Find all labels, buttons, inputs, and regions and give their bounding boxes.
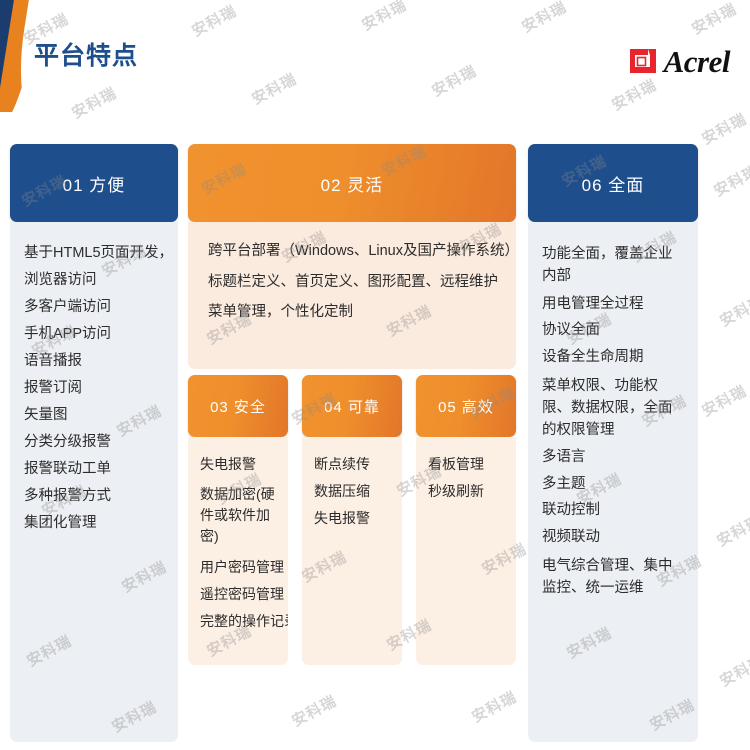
column-body-01: 基于HTML5页面开发， 浏览器访问 多客户端访问 手机APP访问 语音播报 报… xyxy=(10,222,178,742)
column-header-02[interactable]: 02 灵活 xyxy=(188,144,516,222)
list-item: 菜单权限、功能权限、数据权限，全面的权限管理 xyxy=(542,376,684,441)
list-item: 跨平台部署（Windows、Linux及国产操作系统） xyxy=(208,244,516,259)
feature-column-02: 02 灵活 跨平台部署（Windows、Linux及国产操作系统） 标题栏定义、… xyxy=(188,144,516,369)
slide-root: 平台特点 Acrel 01 方便 基于HTML5页面开发， 浏览器访问 多客户端… xyxy=(0,0,750,750)
list-item: 失电报警 xyxy=(314,511,402,525)
list-item: 多主题 xyxy=(542,477,684,492)
list-item: 多语言 xyxy=(542,450,684,465)
list-item: 设备全生命周期 xyxy=(542,350,684,365)
column-header-04[interactable]: 04 可靠 xyxy=(302,375,402,437)
brand-logo: Acrel xyxy=(629,44,730,78)
list-item: 语音播报 xyxy=(24,354,178,369)
feature-column-04: 04 可靠 断点续传 数据压缩 失电报警 xyxy=(302,375,402,665)
column-header-label-03: 03 安全 xyxy=(210,396,266,417)
list-item: 基于HTML5页面开发， xyxy=(24,246,178,261)
list-item: 用电管理全过程 xyxy=(542,297,684,312)
list-item: 视频联动 xyxy=(542,530,684,545)
list-item: 电气综合管理、集中监控、统一运维 xyxy=(542,556,684,600)
column-header-label-05: 05 高效 xyxy=(438,396,494,417)
features-board: 01 方便 基于HTML5页面开发， 浏览器访问 多客户端访问 手机APP访问 … xyxy=(0,112,750,750)
list-item: 完整的操作记录 xyxy=(200,614,288,628)
column-body-02: 跨平台部署（Windows、Linux及国产操作系统） 标题栏定义、首页定义、图… xyxy=(188,222,516,369)
list-item: 浏览器访问 xyxy=(24,273,178,288)
column-header-label-02: 02 灵活 xyxy=(321,171,384,196)
list-item: 联动控制 xyxy=(542,503,684,518)
column-header-label-01: 01 方便 xyxy=(63,171,126,196)
feature-column-01: 01 方便 基于HTML5页面开发， 浏览器访问 多客户端访问 手机APP访问 … xyxy=(10,144,178,742)
column-header-03[interactable]: 03 安全 xyxy=(188,375,288,437)
feature-column-06: 06 全面 功能全面，覆盖企业内部 用电管理全过程 协议全面 设备全生命周期 菜… xyxy=(528,144,698,742)
column-body-05: 看板管理 秒级刷新 xyxy=(416,437,516,665)
feature-column-05: 05 高效 看板管理 秒级刷新 xyxy=(416,375,516,665)
column-header-label-06: 06 全面 xyxy=(582,171,645,196)
list-item: 失电报警 xyxy=(200,457,288,471)
column-body-06: 功能全面，覆盖企业内部 用电管理全过程 协议全面 设备全生命周期 菜单权限、功能… xyxy=(528,222,698,742)
list-item: 分类分级报警 xyxy=(24,435,178,450)
feature-column-03: 03 安全 失电报警 数据加密(硬件或软件加密) 用户密码管理 遥控密码管理 完… xyxy=(188,375,288,665)
list-item: 数据压缩 xyxy=(314,484,402,498)
list-item: 功能全面，覆盖企业内部 xyxy=(542,244,684,288)
list-item: 手机APP访问 xyxy=(24,327,178,342)
list-item: 用户密码管理 xyxy=(200,560,288,574)
column-body-03: 失电报警 数据加密(硬件或软件加密) 用户密码管理 遥控密码管理 完整的操作记录 xyxy=(188,437,288,665)
list-item: 数据加密(硬件或软件加密) xyxy=(200,484,288,547)
list-item: 菜单管理，个性化定制 xyxy=(208,305,516,320)
list-item: 报警订阅 xyxy=(24,381,178,396)
column-header-06[interactable]: 06 全面 xyxy=(528,144,698,222)
brand-name: Acrel xyxy=(664,46,730,77)
page-title: 平台特点 xyxy=(34,44,138,69)
slide-header: 平台特点 Acrel xyxy=(0,0,750,112)
list-item: 矢量图 xyxy=(24,408,178,423)
column-header-05[interactable]: 05 高效 xyxy=(416,375,516,437)
list-item: 集团化管理 xyxy=(24,516,178,531)
list-item: 遥控密码管理 xyxy=(200,587,288,601)
list-item: 多客户端访问 xyxy=(24,300,178,315)
column-header-label-04: 04 可靠 xyxy=(324,396,380,417)
list-item: 报警联动工单 xyxy=(24,462,178,477)
list-item: 协议全面 xyxy=(542,323,684,338)
list-item: 断点续传 xyxy=(314,457,402,471)
column-header-01[interactable]: 01 方便 xyxy=(10,144,178,222)
list-item: 标题栏定义、首页定义、图形配置、远程维护 xyxy=(208,275,516,290)
list-item: 多种报警方式 xyxy=(24,489,178,504)
list-item: 秒级刷新 xyxy=(428,484,516,498)
acrel-logo-icon xyxy=(629,46,657,76)
column-body-04: 断点续传 数据压缩 失电报警 xyxy=(302,437,402,665)
list-item: 看板管理 xyxy=(428,457,516,471)
